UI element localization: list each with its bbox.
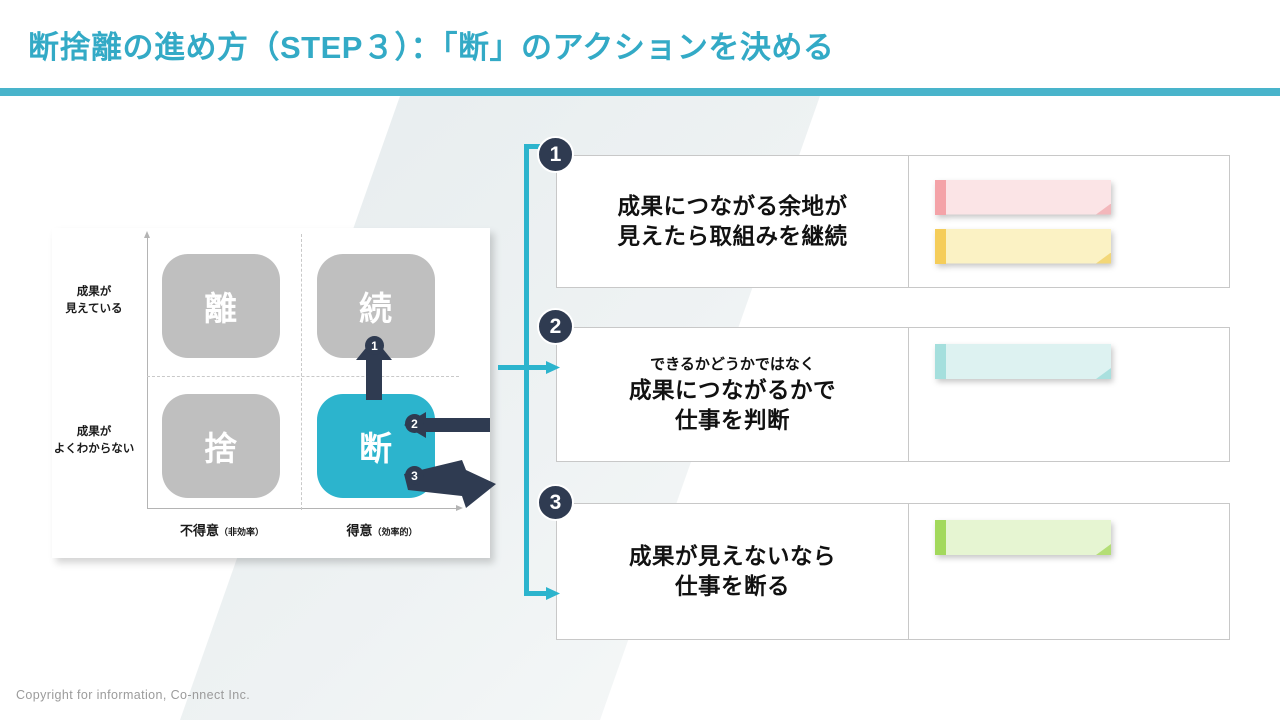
matrix-diagram-card: 離 続 捨 断 1 2 3 成果が 見えている 成果が よくわからない 不得意（…	[52, 228, 490, 558]
connector-rail	[498, 140, 568, 600]
action-panel-2-text: できるかどうかではなく 成果につながるかで 仕事を判断	[557, 328, 909, 461]
matrix-y-label-high: 成果が 見えている	[46, 284, 142, 319]
action-panel-1-text: 成果につながる余地が 見えたら取組みを継続	[557, 156, 909, 287]
matrix-marker-3-label: 3	[411, 470, 418, 482]
action-panel-3-line-2: 仕事を断る	[675, 572, 790, 602]
matrix-x-label-right-main: 得意	[346, 523, 372, 538]
action-panel-2-line-3: 仕事を判断	[675, 406, 790, 436]
matrix-marker-1: 1	[365, 336, 384, 355]
panel-badge-3-label: 3	[550, 492, 562, 513]
sticky-note-teal	[935, 344, 1111, 379]
panel-badge-1-label: 1	[550, 144, 562, 165]
matrix-x-label-left-main: 不得意	[180, 523, 219, 538]
matrix-marker-3: 3	[405, 466, 424, 485]
action-panel-1-line-2: 見えたら取組みを継続	[617, 222, 847, 252]
matrix-marker-2-label: 2	[411, 418, 418, 430]
quadrant-label-ri: 離	[204, 282, 238, 330]
action-panel-2-notes	[909, 328, 1229, 461]
matrix-x-label-left-sub: （非効率）	[219, 527, 264, 537]
matrix-y-label-high-line1: 成果が	[46, 284, 142, 301]
action-panel-2[interactable]: できるかどうかではなく 成果につながるかで 仕事を判断	[556, 327, 1230, 462]
page-title: 断捨離の進め方（STEP３）：「断」のアクションを決める	[28, 22, 834, 67]
action-panel-1-line-1: 成果につながる余地が	[617, 192, 847, 222]
panel-badge-1: 1	[537, 136, 574, 173]
matrix-gridline-vertical	[301, 234, 302, 510]
action-panel-3-text: 成果が見えないなら 仕事を断る	[557, 504, 909, 639]
matrix-x-label-left: 不得意（非効率）	[147, 520, 297, 539]
matrix-marker-2: 2	[405, 414, 424, 433]
matrix-y-label-low: 成果が よくわからない	[46, 424, 142, 459]
quadrant-label-dan: 断	[359, 422, 393, 470]
action-panel-1-notes	[909, 156, 1229, 287]
quadrant-label-sute: 捨	[204, 422, 238, 470]
panel-badge-3: 3	[537, 484, 574, 521]
matrix-gridline-horizontal	[147, 376, 459, 377]
matrix-y-label-low-line1: 成果が	[46, 424, 142, 441]
sticky-note-yellow	[935, 229, 1111, 264]
action-panel-3[interactable]: 成果が見えないなら 仕事を断る	[556, 503, 1230, 640]
action-panel-2-line-2: 成果につながるかで	[629, 376, 836, 406]
sticky-note-pink	[935, 180, 1111, 215]
copyright-footer: Copyright for information, Co-nnect Inc.	[16, 688, 250, 702]
matrix-x-label-right: 得意（効率的）	[307, 520, 457, 539]
matrix-quadrant-ri[interactable]: 離	[162, 254, 280, 358]
action-panel-3-notes	[909, 504, 1229, 639]
matrix-y-label-low-line2: よくわからない	[46, 441, 142, 458]
header-divider	[0, 88, 1280, 96]
matrix-y-label-high-line2: 見えている	[46, 301, 142, 318]
quadrant-label-zoku: 続	[359, 282, 393, 330]
sticky-note-green	[935, 520, 1111, 555]
action-panel-1[interactable]: 成果につながる余地が 見えたら取組みを継続	[556, 155, 1230, 288]
matrix-quadrant-sute[interactable]: 捨	[162, 394, 280, 498]
matrix-y-axis	[147, 236, 148, 508]
action-panel-3-line-1: 成果が見えないなら	[629, 542, 836, 572]
action-panel-2-line-1: できるかどうかではなく	[650, 354, 815, 377]
matrix-marker-1-label: 1	[371, 340, 378, 352]
matrix-x-axis	[147, 508, 457, 509]
matrix-x-label-right-sub: （効率的）	[373, 527, 418, 537]
panel-badge-2: 2	[537, 308, 574, 345]
panel-badge-2-label: 2	[550, 316, 562, 337]
